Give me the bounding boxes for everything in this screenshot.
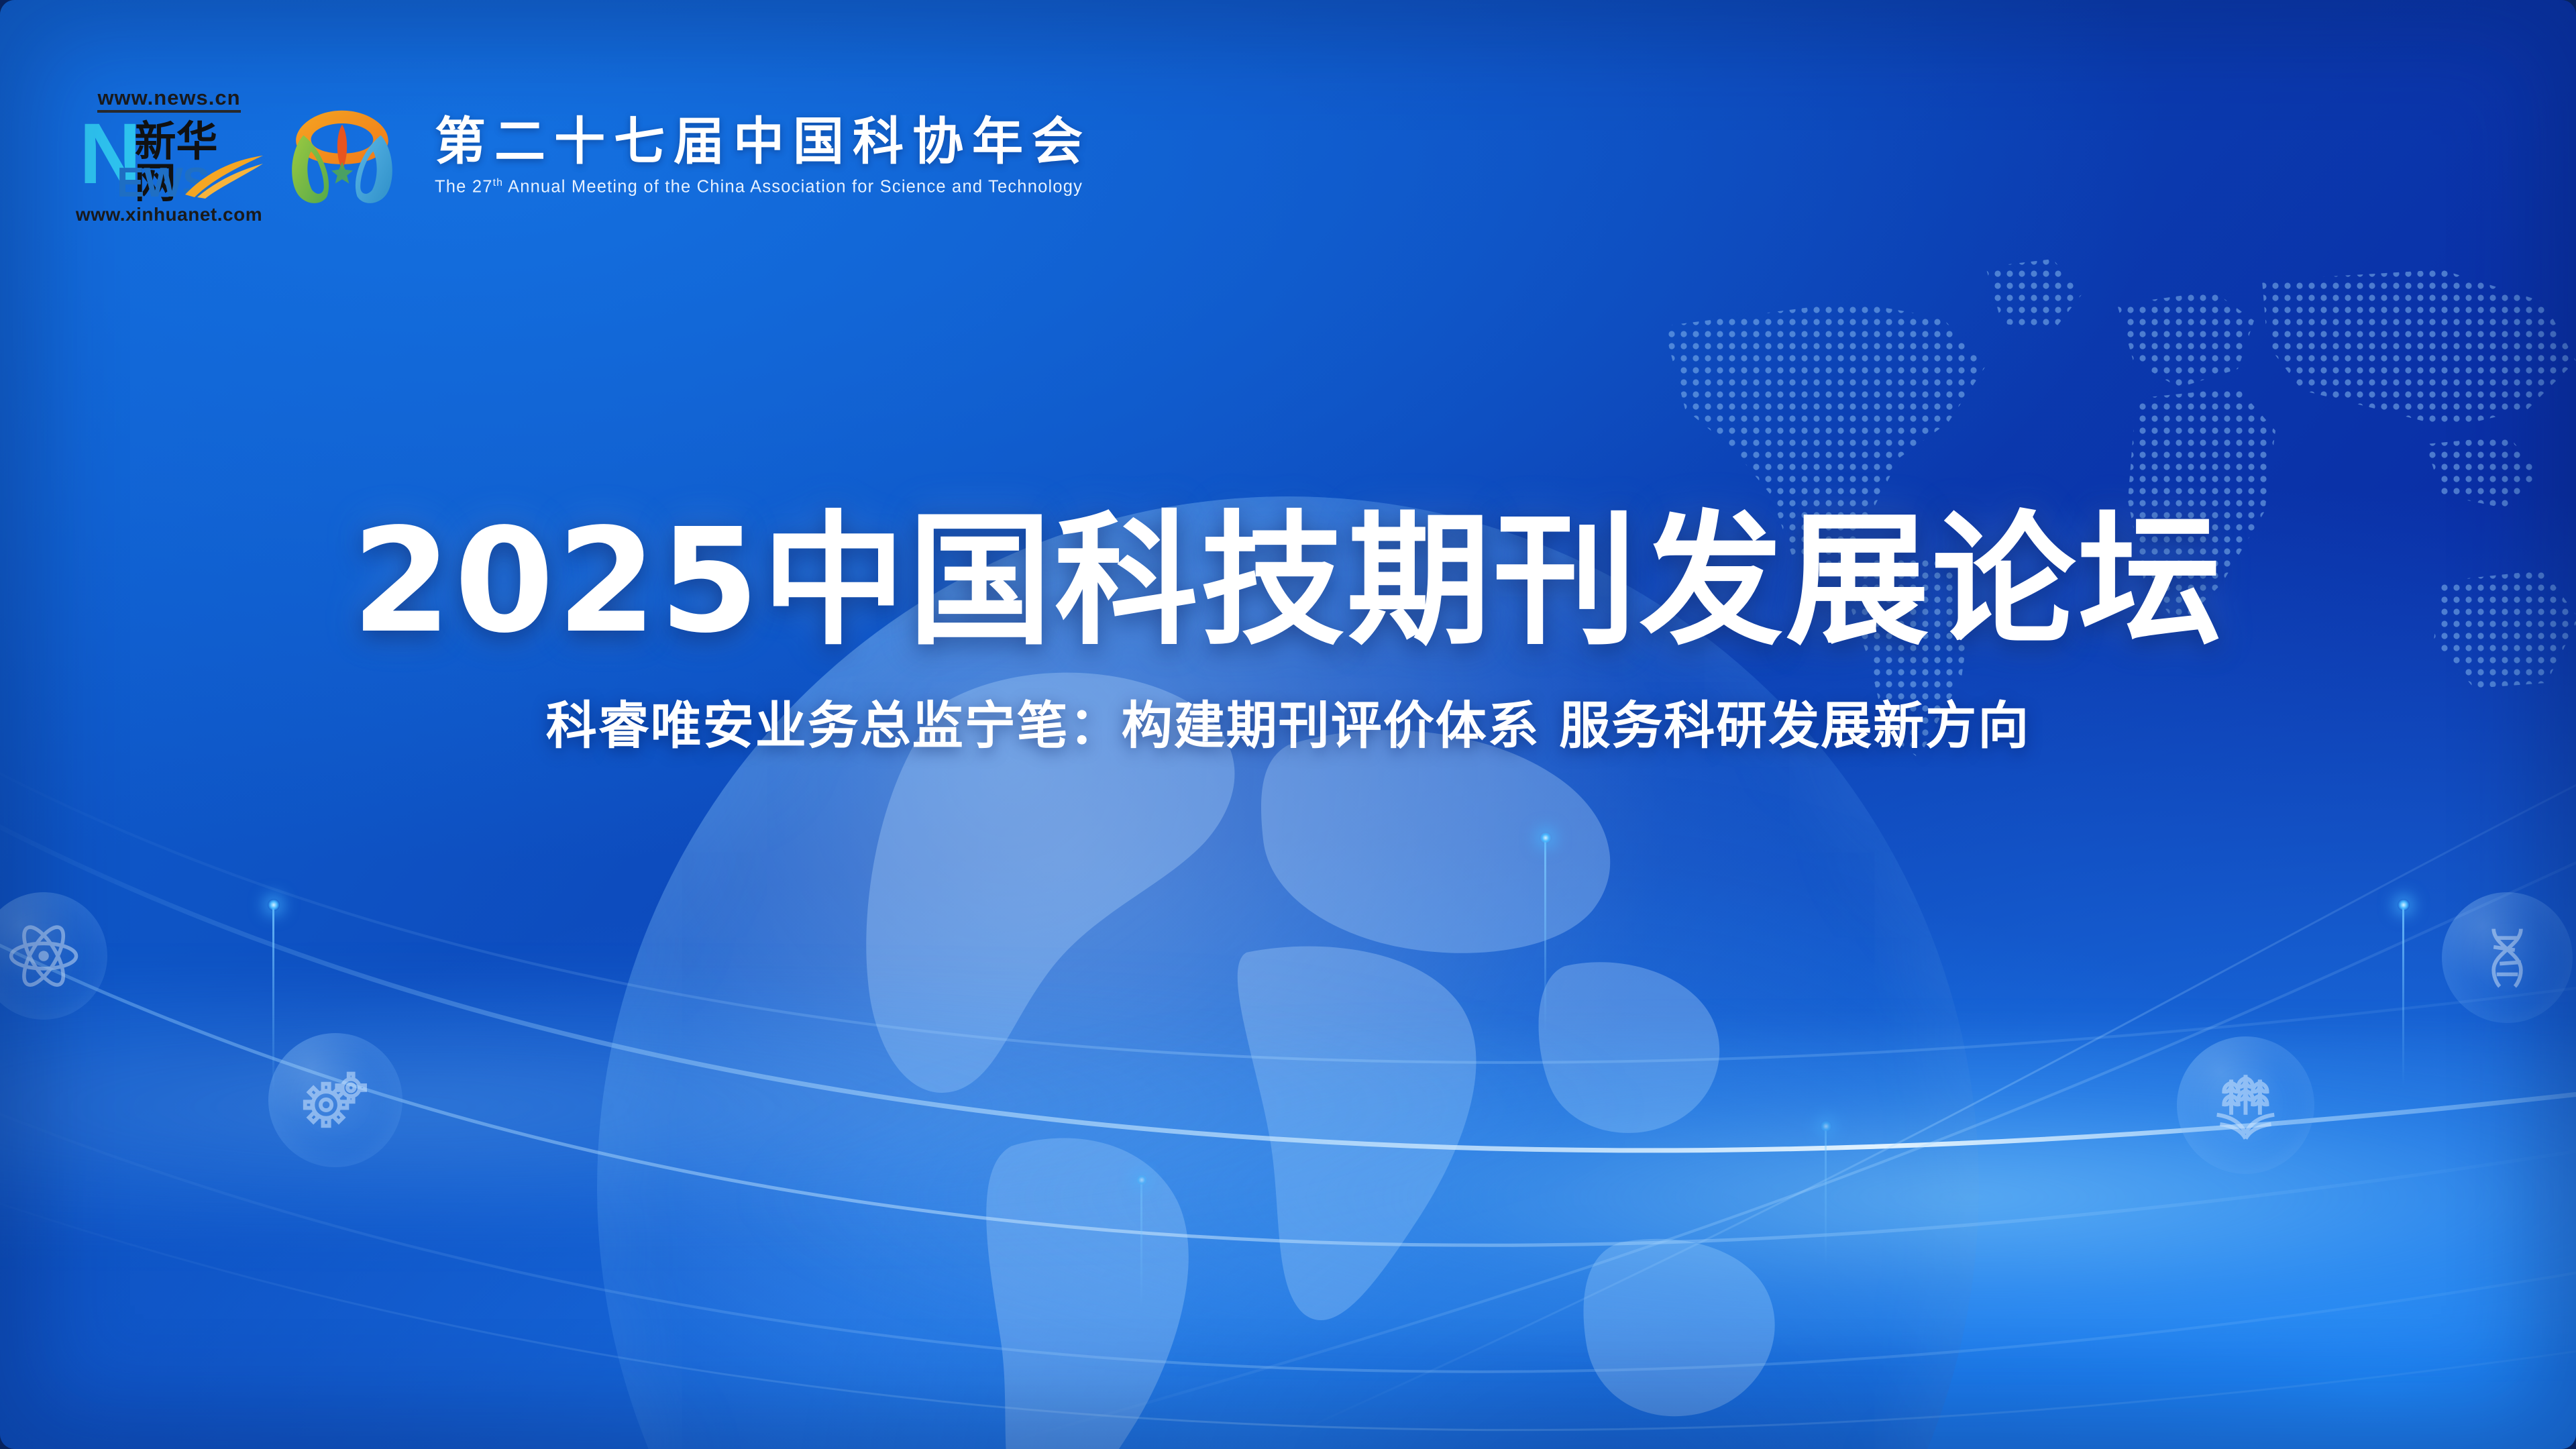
- light-stem-5: [1825, 1127, 1827, 1268]
- atom-icon: [0, 892, 107, 1020]
- light-stem-4: [1140, 1181, 1142, 1308]
- xinhua-url-bottom: www.xinhuanet.com: [76, 205, 262, 224]
- conference-title-cn: 第二十七届中国科协年会: [435, 115, 1091, 169]
- conference-title-en-ordinal: th: [493, 177, 504, 189]
- conference-wordmark: 第二十七届中国科协年会 The 27th Annual Meeting of t…: [435, 115, 1091, 197]
- conference-title-en-rest: Annual Meeting of the China Association …: [503, 177, 1083, 196]
- world-globe: [597, 496, 1979, 1449]
- xinhua-mark: N 新华网 EWS: [79, 117, 259, 200]
- conference-title-en-prefix: The 27: [435, 177, 493, 196]
- xinhua-swoosh-icon: [184, 154, 264, 199]
- conference-banner: www.news.cn N 新华网 EWS www.xinhuanet.com: [0, 0, 2576, 1449]
- wheat-icon: [2177, 1036, 2314, 1174]
- xinhua-logo[interactable]: www.news.cn N 新华网 EWS www.xinhuanet.com: [79, 79, 259, 232]
- gears-icon: [268, 1033, 402, 1167]
- china-association-science-technology-emblem-icon: [288, 102, 396, 209]
- conference-title-en: The 27th Annual Meeting of the China Ass…: [435, 177, 1091, 197]
- banner-header: www.news.cn N 新华网 EWS www.xinhuanet.com: [79, 79, 1091, 232]
- dna-icon: [2442, 892, 2573, 1023]
- light-stem-2: [1544, 839, 1546, 1033]
- light-stem-3: [2402, 906, 2404, 1087]
- light-stem-1: [272, 906, 274, 1093]
